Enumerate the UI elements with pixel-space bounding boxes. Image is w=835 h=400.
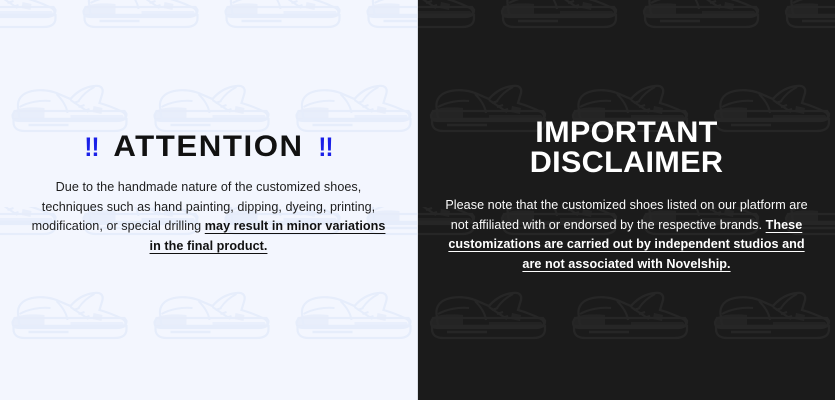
attention-heading: !! ATTENTION !! [19,130,399,164]
disclaimer-body-text: Please note that the customized shoes li… [444,196,809,274]
attention-body-text: Due to the handmade nature of the custom… [26,178,391,256]
double-exclamation-left-icon: !! [84,130,98,164]
customization-notice-banner: !! ATTENTION !! Due to the handmade natu… [0,0,835,400]
attention-panel: !! ATTENTION !! Due to the handmade natu… [0,0,418,400]
disclaimer-heading-line-2: DISCLAIMER [440,148,812,178]
double-exclamation-right-icon: !! [318,130,332,164]
disclaimer-heading-line-1: IMPORTANT [440,118,812,148]
attention-heading-word: ATTENTION [113,130,303,164]
disclaimer-panel: IMPORTANT DISCLAIMER Please note that th… [418,0,835,400]
disclaimer-heading: IMPORTANT DISCLAIMER [440,118,812,178]
disclaimer-content: IMPORTANT DISCLAIMER Please note that th… [418,118,835,274]
disclaimer-body-normal: Please note that the customized shoes li… [445,198,807,232]
attention-content: !! ATTENTION !! Due to the handmade natu… [0,130,417,256]
